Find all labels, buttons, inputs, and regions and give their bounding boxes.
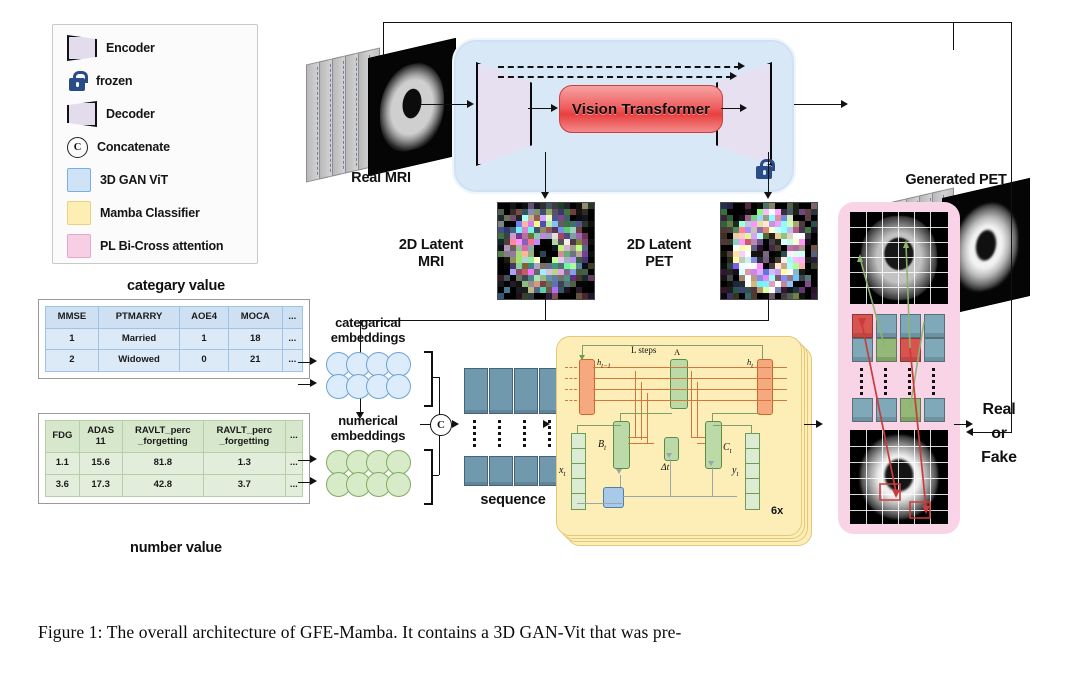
table-cell: Widowed	[98, 350, 179, 372]
vision-transformer-label: Vision Transformer	[572, 101, 710, 118]
h-prev-label: ht−1	[597, 357, 611, 370]
delta-label: Δt	[661, 463, 669, 473]
table-header-cell: RAVLT_perc_forgetting	[204, 421, 285, 453]
x-label: xt	[559, 465, 565, 478]
pet-stack-tap	[953, 22, 954, 50]
table-cell: 3.7	[204, 474, 285, 496]
latent-mri-feed	[545, 152, 546, 194]
real-mri-label: Real MRI	[306, 170, 456, 187]
category-table: MMSEPTMARRYAOE4MOCA...1Married118...2Wid…	[38, 299, 310, 379]
A-label: A	[674, 347, 680, 357]
table-cell: 1.1	[46, 453, 80, 475]
legend-label: Mamba Classifier	[100, 206, 200, 220]
latent-pet-out	[768, 298, 769, 320]
pl-bicross-attention-panel	[838, 202, 960, 534]
table-header-cell: ...	[285, 421, 302, 453]
table-cell: 18	[228, 328, 282, 350]
real-mri-stack	[306, 44, 454, 184]
legend-label: Encoder	[106, 41, 155, 55]
table-header-cell: ...	[282, 307, 302, 329]
token-cube	[924, 314, 945, 338]
legend-item-encoder: Encoder	[67, 37, 155, 59]
latent-mri-out	[545, 298, 546, 320]
token-cube	[876, 314, 897, 338]
legend-label: 3D GAN ViT	[100, 173, 168, 187]
numerical-embedding-circles	[326, 450, 422, 500]
categorical-embedding-circles	[326, 352, 422, 402]
table-cell: 21	[228, 350, 282, 372]
lock-icon	[67, 70, 87, 92]
generated-pet-label: Generated PET	[880, 172, 1032, 189]
table-cell: ...	[285, 453, 302, 475]
feedback-bus-right	[1011, 22, 1012, 432]
table-header-cell: RAVLT_perc_forgetting	[122, 421, 203, 453]
figure-caption: Figure 1: The overall architecture of GF…	[38, 622, 1048, 643]
legend-item-frozen: frozen	[67, 70, 132, 92]
gan-vit-panel: Vision Transformer	[452, 38, 796, 194]
y-label: yt	[732, 465, 738, 478]
yellow-swatch-icon	[67, 201, 91, 225]
table-header-cell: MMSE	[46, 307, 99, 329]
vision-transformer-block: Vision Transformer	[559, 85, 723, 133]
table-cell: ...	[282, 328, 302, 350]
token-cube	[876, 338, 897, 362]
numerical-embeddings-label: numerical embeddings	[318, 414, 418, 444]
latent-bus	[360, 320, 769, 321]
mri-slice-image	[368, 38, 456, 176]
table-header-cell: MOCA	[228, 307, 282, 329]
figure-canvas: Encoder frozen Decoder C Concatenate 3D …	[0, 0, 1080, 600]
token-cube	[852, 314, 873, 338]
B-block	[613, 421, 630, 469]
C-label: Ct	[723, 442, 732, 455]
B-label: Bt	[598, 439, 606, 452]
lower-brain-grid	[850, 430, 948, 524]
legend-label: Decoder	[106, 107, 155, 121]
legend-item-pl-bicross-attention: PL Bi-Cross attention	[67, 235, 223, 257]
sequence-label: sequence	[455, 492, 571, 509]
token-cube	[852, 398, 873, 422]
token-cube	[924, 338, 945, 362]
decoder-trapezoid-icon	[67, 101, 97, 127]
token-cube	[900, 314, 921, 338]
mamba-classifier-panel: L steps ht−1 ht A Bt Ct Δt xt yt 6x	[556, 336, 802, 536]
token-cube	[852, 338, 873, 362]
number-table: FDGADAS11RAVLT_perc_forgettingRAVLT_perc…	[38, 413, 310, 504]
table-cell: 1	[46, 328, 99, 350]
real-label: Real	[962, 398, 1036, 422]
token-cube	[900, 338, 921, 362]
legend-label: frozen	[96, 74, 132, 88]
token-cube	[876, 398, 897, 422]
table-cell: 1.3	[204, 453, 285, 475]
h-t-label: ht	[747, 357, 753, 370]
category-table-title: categary value	[56, 278, 296, 295]
table-cell: 1	[180, 328, 229, 350]
table-row: 3.617.342.83.7...	[46, 474, 303, 496]
table-cell: 2	[46, 350, 99, 372]
legend-box: Encoder frozen Decoder C Concatenate 3D …	[52, 24, 258, 264]
encoder-trapezoid-icon	[67, 35, 97, 61]
lock-icon	[754, 158, 774, 180]
latent-mri-image	[497, 202, 595, 300]
l-steps-label: L steps	[631, 345, 656, 355]
table-cell: 17.3	[79, 474, 122, 496]
feedback-bus-left	[383, 22, 384, 56]
upper-brain-grid	[850, 212, 948, 304]
legend-item-mamba-classifier: Mamba Classifier	[67, 202, 200, 224]
latent-pet-image	[720, 202, 818, 300]
table-header-row: FDGADAS11RAVLT_perc_forgettingRAVLT_perc…	[46, 421, 303, 453]
pink-swatch-icon	[67, 234, 91, 258]
table-cell: 81.8	[122, 453, 203, 475]
repeat-label: 6x	[771, 505, 783, 517]
table-row: 1Married118...	[46, 328, 303, 350]
table-cell: 42.8	[122, 474, 203, 496]
table-cell: 15.6	[79, 453, 122, 475]
fake-label: Fake	[962, 446, 1036, 470]
number-table-title: number value	[56, 540, 296, 557]
table-header-row: MMSEPTMARRYAOE4MOCA...	[46, 307, 303, 329]
table-cell: 0	[180, 350, 229, 372]
table-row: 1.115.681.81.3...	[46, 453, 303, 475]
legend-item-concatenate: C Concatenate	[67, 136, 170, 158]
token-cube	[900, 398, 921, 422]
blue-swatch-icon	[67, 168, 91, 192]
categorical-embeddings-label: categarical embeddings	[318, 316, 418, 346]
or-label: or	[962, 422, 1036, 446]
concatenate-circle-icon: C	[67, 137, 88, 158]
legend-item-3d-gan-vit: 3D GAN ViT	[67, 169, 168, 191]
table-header-cell: PTMARRY	[98, 307, 179, 329]
latent-pet-feed	[768, 152, 769, 194]
token-cube	[924, 398, 945, 422]
legend-label: PL Bi-Cross attention	[100, 239, 223, 253]
legend-label: Concatenate	[97, 140, 170, 154]
discriminator-output: Real or Fake	[962, 398, 1036, 470]
table-cell: ...	[285, 474, 302, 496]
feedback-bus-top	[383, 22, 1011, 23]
table-header-cell: ADAS11	[79, 421, 122, 453]
table-header-cell: FDG	[46, 421, 80, 453]
table-cell: Married	[98, 328, 179, 350]
table-cell: 3.6	[46, 474, 80, 496]
selective-scan-block	[603, 487, 624, 508]
latent-pet-label: 2D Latent PET	[604, 237, 714, 270]
legend-item-decoder: Decoder	[67, 103, 155, 125]
latent-mri-label: 2D Latent MRI	[376, 237, 486, 270]
table-row: 2Widowed021...	[46, 350, 303, 372]
table-header-cell: AOE4	[180, 307, 229, 329]
concatenate-node: C	[430, 414, 452, 436]
